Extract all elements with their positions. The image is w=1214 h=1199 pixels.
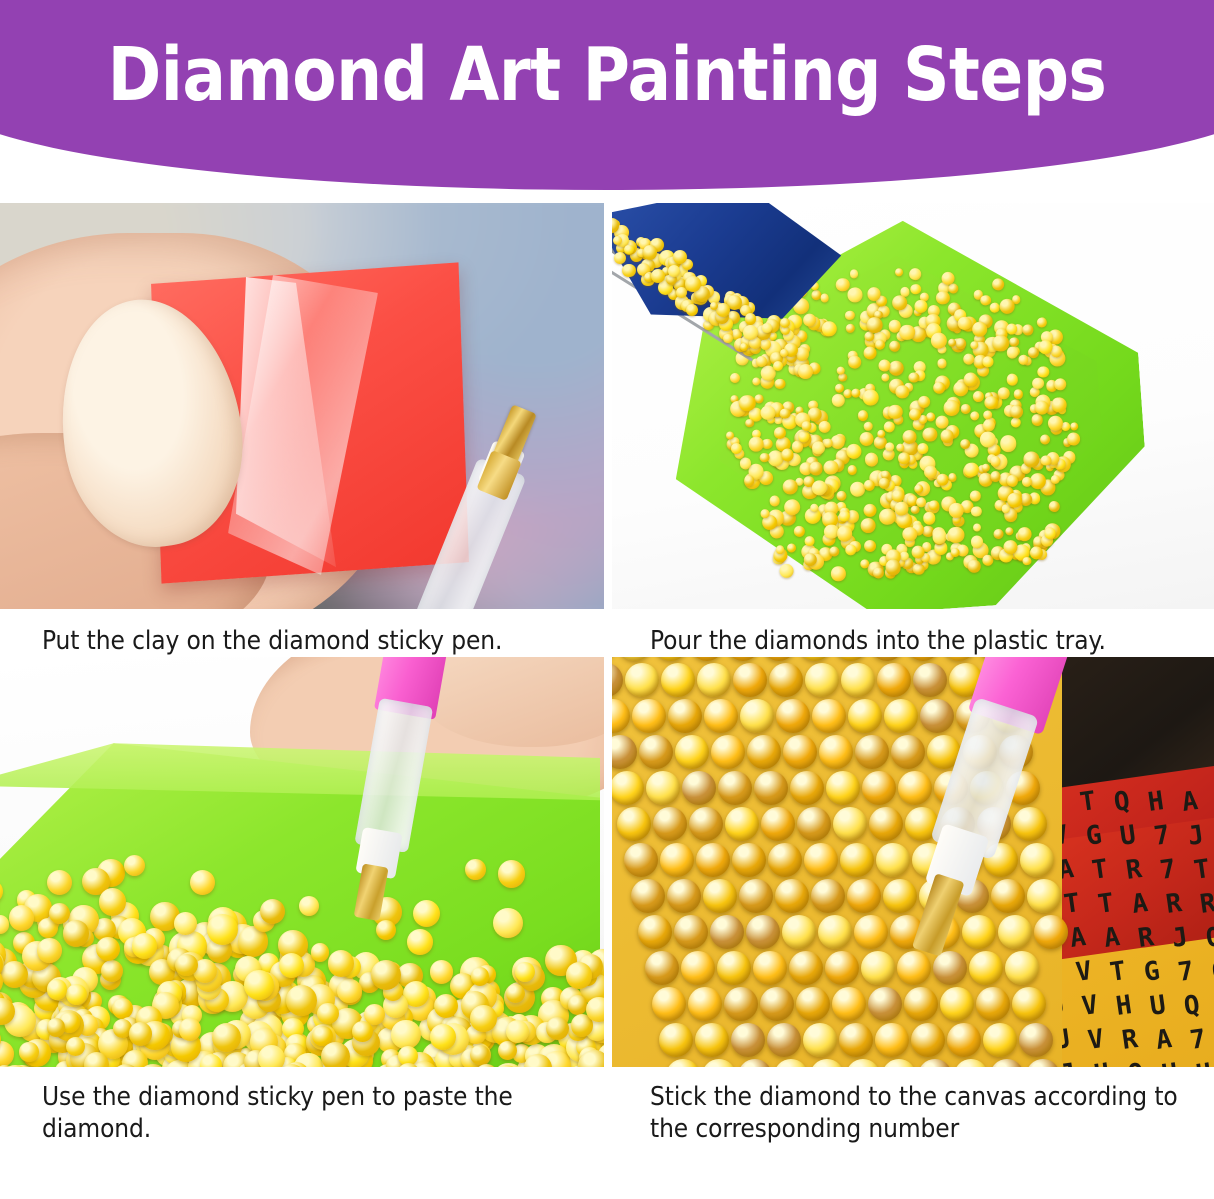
diamond-bead: [101, 960, 123, 982]
diamond-bead: [868, 987, 902, 1021]
diamond-bead: [993, 528, 1004, 539]
diamond-bead: [19, 1042, 38, 1061]
diamond-bead: [724, 987, 758, 1021]
canvas-symbol: U: [1160, 1058, 1180, 1067]
diamond-bead: [1037, 366, 1049, 378]
diamond-bead: [745, 418, 754, 427]
diamond-bead: [760, 509, 769, 518]
diamond-bead: [612, 699, 630, 733]
diamond-bead: [857, 410, 868, 421]
canvas-symbol: T: [1096, 888, 1116, 920]
diamond-bead: [936, 290, 951, 305]
diamond-bead: [972, 390, 985, 403]
diamond-bead: [954, 1059, 988, 1067]
diamond-bead: [781, 449, 794, 462]
diamond-bead: [773, 361, 783, 371]
diamond-bead: [260, 899, 286, 925]
diamond-bead: [645, 951, 679, 985]
diamond-bead: [937, 358, 947, 368]
diamond-bead: [286, 985, 317, 1016]
diamond-bead: [1012, 987, 1046, 1021]
diamond-bead: [652, 987, 686, 1021]
diamond-bead: [910, 283, 922, 295]
diamond-bead: [753, 951, 787, 985]
diamond-bead: [639, 735, 673, 769]
diamond-bead: [124, 855, 145, 876]
diamond-bead: [624, 245, 634, 255]
diamond-bead: [809, 461, 823, 475]
diamond-bead: [723, 334, 733, 344]
diamond-bead: [846, 443, 862, 459]
steps-grid: Put the clay on the diamond sticky pen. …: [0, 203, 1214, 1146]
step-card-4: RGTQHA77UUVVGU7J7V7URATR7TRH7Q7TTARRAJHQ…: [612, 657, 1214, 1145]
diamond-bead: [989, 302, 999, 312]
diamond-bead: [718, 771, 752, 805]
step-card-1: Put the clay on the diamond sticky pen.: [0, 203, 604, 657]
diamond-bead: [651, 269, 665, 283]
diamond-bead: [990, 1059, 1024, 1067]
diamond-bead: [812, 699, 846, 733]
diamond-bead: [768, 843, 802, 877]
diamond-bead: [845, 324, 855, 334]
diamond-bead: [932, 382, 945, 395]
diamond-bead: [668, 265, 680, 277]
diamond-bead: [638, 915, 672, 949]
canvas-symbol: G: [1142, 956, 1162, 988]
diamond-bead: [798, 431, 809, 442]
canvas-symbol: H: [1194, 1058, 1214, 1067]
canvas-symbol: Q: [1182, 990, 1202, 1022]
canvas-symbol: H: [1092, 1058, 1112, 1067]
diamond-bead: [696, 843, 730, 877]
diamond-bead: [49, 903, 70, 924]
diamond-bead: [371, 960, 401, 990]
step-4-caption: Stick the diamond to the canvas accordin…: [612, 1067, 1214, 1145]
diamond-bead: [841, 663, 875, 697]
pen-gold-tip: [912, 873, 965, 956]
diamond-bead: [695, 1023, 729, 1057]
diamond-bead: [63, 920, 90, 947]
diamond-bead: [900, 552, 909, 561]
canvas-symbol: T: [1192, 854, 1212, 886]
steps-row-1: Put the clay on the diamond sticky pen. …: [0, 203, 1214, 657]
diamond-bead: [790, 771, 824, 805]
diamond-bead: [1018, 355, 1028, 365]
diamond-bead: [660, 843, 694, 877]
diamond-bead: [941, 271, 955, 285]
diamond-bead: [982, 419, 995, 432]
diamond-bead: [875, 1023, 909, 1057]
diamond-bead: [780, 349, 788, 357]
canvas-symbol: R: [1120, 1024, 1140, 1056]
diamond-bead: [798, 657, 832, 661]
diamond-bead: [732, 843, 766, 877]
diamond-bead: [914, 484, 924, 494]
canvas-symbol: U: [1148, 990, 1168, 1022]
diamond-bead: [823, 460, 839, 476]
diamond-art-steps-infographic: Diamond Art Painting Steps: [0, 0, 1214, 1199]
diamond-bead: [908, 372, 919, 383]
diamond-bead: [688, 987, 722, 1021]
canvas-symbol: 7: [1188, 1024, 1208, 1056]
diamond-bead: [775, 879, 809, 913]
diamond-bead: [819, 735, 853, 769]
diamond-bead: [471, 967, 489, 985]
diamond-bead: [430, 1024, 456, 1050]
diamond-bead: [762, 323, 771, 332]
diamond-bead: [174, 912, 197, 935]
diamond-bead: [774, 1059, 808, 1067]
diamond-bead: [702, 1059, 736, 1067]
diamond-bead: [686, 304, 698, 316]
diamond-bead: [632, 699, 666, 733]
diamond-bead: [847, 287, 862, 302]
diamond-bead: [906, 657, 940, 661]
canvas-symbol: R: [1136, 922, 1156, 954]
diamond-bead: [888, 340, 900, 352]
diamond-bead: [760, 339, 771, 350]
diamond-bead: [391, 1020, 421, 1050]
canvas-symbol: T: [1090, 854, 1110, 886]
diamond-bead: [960, 404, 970, 414]
yellow-diamonds-in-tray: [0, 797, 604, 1067]
diamond-bead: [646, 771, 680, 805]
canvas-symbol: Q: [1112, 786, 1132, 818]
canvas-symbol: A: [1180, 786, 1200, 818]
diamond-bead: [99, 888, 127, 916]
diamond-bead: [769, 495, 780, 506]
diamond-bead: [972, 523, 981, 532]
diamond-bead: [752, 377, 761, 386]
diamond-bead: [877, 429, 886, 438]
diamond-bead: [991, 278, 1004, 291]
canvas-symbol: 7: [1152, 820, 1172, 852]
canvas-symbol: J: [1170, 922, 1190, 954]
diamond-bead: [0, 1041, 14, 1067]
canvas-symbol: V: [1074, 956, 1094, 988]
diamond-bead: [982, 463, 991, 472]
diamond-bead: [66, 1037, 85, 1056]
diamond-bead: [947, 526, 964, 543]
canvas-symbol: V: [1086, 1024, 1106, 1056]
diamond-bead: [1005, 527, 1014, 536]
canvas-symbol: T: [1108, 956, 1128, 988]
diamond-bead: [762, 657, 796, 661]
diamond-bead: [971, 506, 982, 517]
diamond-bead: [911, 505, 920, 514]
diamond-bead: [668, 699, 702, 733]
diamond-bead: [784, 499, 801, 516]
diamond-bead: [689, 807, 723, 841]
diamond-bead: [1022, 557, 1031, 566]
canvas-symbol: H: [1146, 786, 1166, 818]
diamond-bead: [1009, 337, 1019, 347]
step-2-caption: Pour the diamonds into the plastic tray.: [612, 609, 1214, 657]
diamond-bead: [244, 970, 274, 1000]
diamond-bead: [739, 879, 773, 913]
diamond-bead: [1049, 500, 1061, 512]
diamond-bead: [1006, 374, 1019, 387]
diamond-bead: [863, 479, 875, 491]
diamond-bead: [914, 299, 928, 313]
diamond-bead: [908, 267, 922, 281]
diamond-bead: [1031, 414, 1043, 426]
diamond-bead: [1019, 1023, 1053, 1057]
diamond-bead: [9, 905, 34, 930]
diamond-bead: [321, 1042, 350, 1068]
diamond-bead: [782, 915, 816, 949]
diamond-bead: [96, 937, 120, 961]
diamond-bead: [738, 1059, 772, 1067]
diamond-bead: [1006, 475, 1018, 487]
diamond-bead: [566, 962, 592, 988]
diamond-bead: [711, 735, 745, 769]
steps-row-2: Use the diamond sticky pen to paste the …: [0, 657, 1214, 1145]
diamond-bead: [918, 1059, 952, 1067]
diamond-bead: [865, 452, 879, 466]
diamond-bead: [498, 860, 526, 888]
diamond-bead: [982, 356, 994, 368]
diamond-bead: [746, 915, 780, 949]
diamond-bead: [826, 771, 860, 805]
diamond-bead: [754, 394, 763, 403]
diamond-bead: [1053, 377, 1066, 390]
diamond-bead: [847, 465, 857, 475]
step-3-caption: Use the diamond sticky pen to paste the …: [0, 1067, 604, 1145]
diamonds-spilling-from-bag: [612, 225, 808, 375]
diamond-bead: [803, 1023, 837, 1057]
diamond-bead: [328, 950, 354, 976]
diamond-bead: [612, 735, 637, 769]
diamond-bead: [849, 481, 865, 497]
page-title: Diamond Art Painting Steps: [18, 0, 1196, 150]
diamond-bead: [430, 960, 454, 984]
diamond-bead: [618, 657, 652, 661]
diamond-bead: [666, 1059, 700, 1067]
diamond-bead: [894, 268, 903, 277]
diamond-bead: [1017, 527, 1032, 542]
diamond-bead: [863, 503, 877, 517]
canvas-symbol: G: [1084, 820, 1104, 852]
diamond-bead: [190, 870, 215, 895]
step-2-photo: [612, 203, 1214, 609]
step-card-2: Pour the diamonds into the plastic tray.: [612, 203, 1214, 657]
diamond-bead: [811, 480, 827, 496]
diamond-bead: [1009, 405, 1023, 419]
diamond-bead: [828, 546, 839, 557]
diamond-bead: [885, 559, 902, 576]
diamond-bead: [0, 880, 3, 903]
diamond-bead: [877, 663, 911, 697]
diamond-bead: [860, 518, 876, 534]
step-3-photo: [0, 657, 604, 1067]
diamond-bead: [760, 987, 794, 1021]
diamond-bead: [804, 843, 838, 877]
diamond-bead: [797, 807, 831, 841]
diamond-bead: [862, 389, 879, 406]
diamond-bead: [839, 1023, 873, 1057]
diamond-bead: [506, 1020, 529, 1043]
diamond-bead: [129, 1022, 153, 1046]
diamond-bead: [970, 411, 980, 421]
diamond-bead: [783, 735, 817, 769]
diamond-bead: [943, 400, 960, 417]
diamond-bead: [1067, 432, 1081, 446]
diamond-bead: [207, 914, 238, 945]
diamond-bead: [47, 979, 67, 999]
diamond-bead: [833, 807, 867, 841]
diamond-bead: [902, 526, 917, 541]
diamond-bead: [465, 859, 486, 880]
diamond-bead: [895, 385, 909, 399]
diamond-bead: [674, 915, 708, 949]
diamond-bead: [999, 298, 1015, 314]
diamond-bead: [703, 879, 737, 913]
diamond-bead: [881, 373, 890, 382]
diamond-bead: [859, 431, 874, 446]
canvas-symbol: A: [1102, 922, 1122, 954]
diamond-bead: [612, 771, 644, 805]
diamond-bead: [875, 340, 886, 351]
diamond-bead: [1034, 915, 1068, 949]
diamond-bead: [846, 1059, 880, 1067]
diamond-bead: [811, 879, 845, 913]
diamond-bead: [612, 663, 623, 697]
step-1-caption: Put the clay on the diamond sticky pen.: [0, 609, 604, 657]
diamond-bead: [685, 276, 701, 292]
diamond-bead: [676, 287, 687, 298]
diamond-bead: [801, 421, 812, 432]
diamond-bead: [568, 995, 588, 1015]
diamond-bead: [972, 322, 988, 338]
diamond-bead: [681, 951, 715, 985]
canvas-symbol: Q: [1210, 956, 1214, 988]
diamond-bead: [761, 807, 795, 841]
step-card-3: Use the diamond sticky pen to paste the …: [0, 657, 604, 1145]
diamond-bead: [831, 566, 846, 581]
diamond-bead: [832, 987, 866, 1021]
diamond-bead: [493, 908, 523, 938]
diamond-bead: [848, 355, 862, 369]
diamond-bead: [787, 544, 797, 554]
diamond-bead: [740, 699, 774, 733]
diamond-bead: [1005, 951, 1039, 985]
canvas-symbol: R: [1164, 888, 1184, 920]
diamond-bead: [1032, 377, 1044, 389]
diamond-bead: [704, 699, 738, 733]
diamond-bead: [710, 915, 744, 949]
diamond-bead: [774, 378, 786, 390]
diamond-bead: [654, 657, 688, 661]
diamond-bead: [661, 663, 695, 697]
diamond-bead: [756, 356, 767, 367]
diamond-bead: [0, 915, 9, 934]
diamond-bead: [337, 979, 362, 1004]
canvas-symbol: 7: [1176, 956, 1196, 988]
diamond-bead: [675, 735, 709, 769]
diamond-bead: [614, 252, 627, 265]
diamond-bead: [879, 508, 896, 525]
diamond-bead: [796, 987, 830, 1021]
diamond-bead: [911, 1023, 945, 1057]
diamond-bead: [779, 563, 795, 579]
diamond-bead: [175, 954, 198, 977]
diamond-bead: [805, 663, 839, 697]
diamond-bead: [840, 843, 874, 877]
diamond-bead: [884, 699, 918, 733]
canvas-symbol: T: [1078, 786, 1098, 818]
diamond-bead: [883, 420, 895, 432]
canvas-symbol: U: [1118, 820, 1138, 852]
diamond-bead: [667, 879, 701, 913]
diamond-bead: [783, 479, 799, 495]
canvas-symbol: R: [1124, 854, 1144, 886]
diamond-bead: [754, 771, 788, 805]
diamond-bead: [882, 1059, 916, 1067]
diamond-bead: [731, 1023, 765, 1057]
diamond-bead: [923, 512, 936, 525]
diamond-bead: [624, 843, 658, 877]
diamond-bead: [743, 475, 754, 486]
diamond-bead: [1050, 474, 1060, 484]
diamond-bead: [969, 490, 980, 501]
diamond-bead: [791, 441, 803, 453]
diamond-bead: [836, 490, 847, 501]
diamond-bead: [625, 663, 659, 697]
diamond-bead: [1026, 1059, 1060, 1067]
diamond-bead: [697, 663, 731, 697]
diamond-bead: [212, 1023, 241, 1052]
diamond-bead: [1006, 346, 1019, 359]
diamond-bead: [1, 961, 28, 988]
canvas-symbol: A: [1130, 888, 1150, 920]
diamond-bead: [47, 870, 73, 896]
diamond-bead: [1070, 422, 1079, 431]
diamond-bead: [913, 563, 925, 575]
diamond-bead: [870, 657, 904, 661]
diamond-bead: [776, 699, 810, 733]
diamond-bead: [726, 657, 760, 661]
diamond-bead: [818, 421, 831, 434]
diamond-bead: [740, 343, 748, 351]
diamond-bead: [922, 427, 938, 443]
diamond-bead: [780, 318, 790, 328]
diamond-bead: [617, 807, 651, 841]
canvas-symbol: Q: [1126, 1058, 1146, 1067]
diamond-bead: [179, 1018, 201, 1040]
diamond-bead: [863, 422, 873, 432]
diamond-bead: [643, 245, 658, 260]
diamond-bead: [717, 951, 751, 985]
diamond-bead: [1022, 324, 1034, 336]
diamond-bead: [999, 435, 1016, 452]
diamond-bead: [845, 310, 855, 320]
header-banner: Diamond Art Painting Steps: [0, 0, 1214, 190]
diamond-bead: [258, 1045, 285, 1068]
diamond-bead: [849, 270, 858, 279]
diamond-bead: [631, 879, 665, 913]
diamond-bead: [821, 294, 830, 303]
diamond-bead: [810, 1059, 844, 1067]
diamond-bead: [1037, 317, 1048, 328]
diamond-bead: [1039, 434, 1050, 445]
diamond-bead: [947, 1023, 981, 1057]
canvas-symbol: H: [1114, 990, 1134, 1022]
diamond-bead: [760, 452, 770, 462]
diamond-bead: [845, 544, 857, 556]
diamond-bead: [769, 663, 803, 697]
canvas-symbol: J: [1186, 820, 1206, 852]
